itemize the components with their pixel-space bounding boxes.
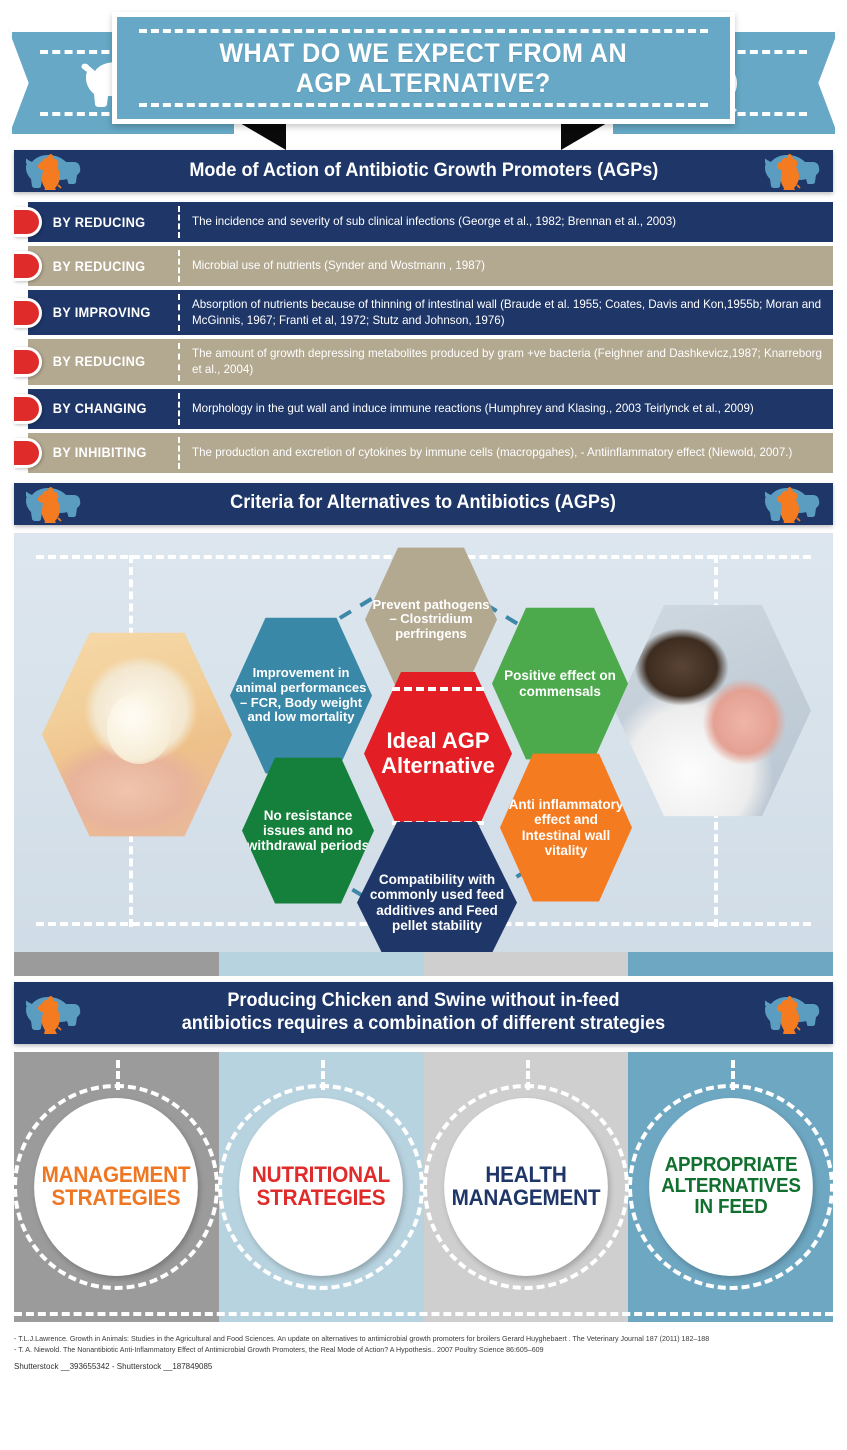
circle-label-line2: MANAGEMENT bbox=[451, 1187, 600, 1210]
circle-label-line2: ALTERNATIVES bbox=[661, 1176, 801, 1197]
pig-chicken-combo-icon bbox=[765, 485, 821, 523]
strategy-column-nutritional: NUTRITIONAL STRATEGIES bbox=[219, 1052, 424, 1322]
section-title-strategies: Producing Chicken and Swine without in-f… bbox=[182, 990, 665, 1035]
section-header-strategies: Producing Chicken and Swine without in-f… bbox=[14, 982, 833, 1044]
pig-chicken-combo-icon bbox=[26, 992, 82, 1034]
circle-label-line3: IN FEED bbox=[661, 1197, 801, 1218]
strategy-circle-nutritional[interactable]: NUTRITIONAL STRATEGIES bbox=[239, 1098, 403, 1276]
dash-line bbox=[139, 103, 708, 107]
strategies-title-line1: Producing Chicken and Swine without in-f… bbox=[182, 990, 665, 1012]
page-title: WHAT DO WE EXPECT FROM AN AGP ALTERNATIV… bbox=[220, 38, 628, 98]
dash-line bbox=[14, 1312, 833, 1316]
infographic-page: WHAT DO WE EXPECT FROM AN AGP ALTERNATIV… bbox=[0, 0, 847, 1450]
strategy-column-health: HEALTH MANAGEMENT bbox=[424, 1052, 629, 1322]
row-text: The amount of growth depressing metaboli… bbox=[180, 339, 833, 384]
strategy-circle-health[interactable]: HEALTH MANAGEMENT bbox=[444, 1098, 608, 1276]
strategy-circle-management[interactable]: MANAGEMENT STRATEGIES bbox=[34, 1098, 198, 1276]
circle-label-line1: MANAGEMENT bbox=[42, 1164, 191, 1187]
row-text: Morphology in the gut wall and induce im… bbox=[180, 389, 833, 429]
page-title-line1: WHAT DO WE EXPECT FROM AN bbox=[220, 38, 628, 68]
row-label: BY IMPROVING bbox=[28, 290, 171, 335]
row-text: The production and excretion of cytokine… bbox=[180, 433, 833, 473]
row-label: BY REDUCING bbox=[28, 202, 171, 242]
pig-chicken-combo-icon bbox=[765, 152, 821, 190]
pig-chicken-combo-icon bbox=[765, 992, 821, 1034]
strategy-circle-alternatives[interactable]: APPROPRIATE ALTERNATIVES IN FEED bbox=[649, 1098, 813, 1276]
criteria-hex-diagram: Prevent pathogens – Clostridium perfring… bbox=[14, 533, 833, 976]
pig-chicken-combo-icon bbox=[26, 152, 82, 190]
row-text: Absorption of nutrients because of thinn… bbox=[180, 290, 833, 335]
circle-label-line1: APPROPRIATE bbox=[661, 1155, 801, 1176]
section-header-criteria: Criteria for Alternatives to Antibiotics… bbox=[14, 483, 833, 525]
row-text: Microbial use of nutrients (Synder and W… bbox=[180, 246, 833, 286]
strip-4 bbox=[628, 952, 833, 976]
footer-references: - T.L.J.Lawrence. Growth in Animals: Stu… bbox=[14, 1334, 833, 1374]
row-label: BY CHANGING bbox=[28, 389, 171, 429]
table-row: BY INHIBITING The production and excreti… bbox=[28, 433, 833, 473]
circle-label-line2: STRATEGIES bbox=[252, 1187, 390, 1210]
reference-1: - T.L.J.Lawrence. Growth in Animals: Stu… bbox=[14, 1334, 833, 1346]
dash-line bbox=[392, 687, 484, 691]
section-title-mode-of-action: Mode of Action of Antibiotic Growth Prom… bbox=[189, 160, 658, 182]
row-label: BY REDUCING bbox=[28, 339, 171, 384]
header-banner: WHAT DO WE EXPECT FROM AN AGP ALTERNATIV… bbox=[112, 12, 735, 124]
row-text: The incidence and severity of sub clinic… bbox=[180, 202, 833, 242]
dash-line bbox=[139, 29, 708, 33]
reference-2: - T. A. Niewold. The Nonantibiotic Anti-… bbox=[14, 1345, 833, 1357]
section-header-mode-of-action: Mode of Action of Antibiotic Growth Prom… bbox=[14, 150, 833, 192]
strip-2 bbox=[219, 952, 424, 976]
page-title-line2: AGP ALTERNATIVE? bbox=[220, 68, 628, 98]
table-row: BY IMPROVING Absorption of nutrients bec… bbox=[28, 290, 833, 335]
circle-label-line2: STRATEGIES bbox=[42, 1187, 191, 1210]
chick-in-hands-photo bbox=[42, 629, 232, 841]
table-row: BY REDUCING The incidence and severity o… bbox=[28, 202, 833, 242]
strip-3 bbox=[424, 952, 629, 976]
row-label: BY REDUCING bbox=[28, 246, 171, 286]
table-row: BY REDUCING The amount of growth depress… bbox=[28, 339, 833, 384]
header-ribbon: WHAT DO WE EXPECT FROM AN AGP ALTERNATIV… bbox=[0, 0, 847, 150]
vet-with-piglet-photo bbox=[615, 601, 811, 821]
strategies-title-line2: antibiotics requires a combination of di… bbox=[182, 1013, 665, 1035]
strategy-circles: MANAGEMENT STRATEGIES NUTRITIONAL STRATE… bbox=[14, 1052, 833, 1322]
panel-color-strips bbox=[14, 952, 833, 976]
section-title-criteria: Criteria for Alternatives to Antibiotics… bbox=[231, 492, 617, 514]
circle-label-line1: NUTRITIONAL bbox=[252, 1164, 390, 1187]
row-label: BY INHIBITING bbox=[28, 433, 171, 473]
circle-label-line1: HEALTH bbox=[451, 1164, 600, 1187]
table-row: BY CHANGING Morphology in the gut wall a… bbox=[28, 389, 833, 429]
strategy-column-management: MANAGEMENT STRATEGIES bbox=[14, 1052, 219, 1322]
table-row: BY REDUCING Microbial use of nutrients (… bbox=[28, 246, 833, 286]
pig-chicken-combo-icon bbox=[26, 485, 82, 523]
strategy-column-alternatives: APPROPRIATE ALTERNATIVES IN FEED bbox=[628, 1052, 833, 1322]
mode-of-action-list: BY REDUCING The incidence and severity o… bbox=[14, 202, 833, 473]
strip-1 bbox=[14, 952, 219, 976]
image-credits: Shutterstock __393655342 - Shutterstock … bbox=[14, 1360, 833, 1373]
